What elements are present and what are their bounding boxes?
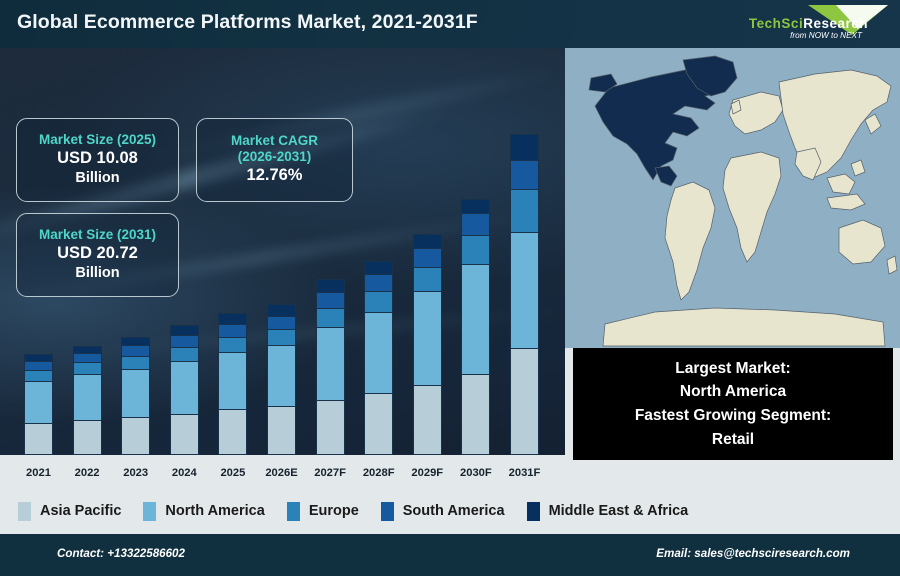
chart-legend: Asia PacificNorth AmericaEuropeSouth Ame… bbox=[0, 488, 900, 534]
bar-segment-asia-pacific bbox=[24, 423, 53, 455]
bar-segment-europe bbox=[24, 370, 53, 381]
bar-segment-north-america bbox=[413, 291, 442, 385]
bar-segment-middle-east-africa bbox=[413, 234, 442, 248]
bar-segment-south-america bbox=[170, 335, 199, 347]
bar-segment-north-america bbox=[73, 374, 102, 420]
bar-segment-middle-east-africa bbox=[121, 337, 150, 345]
bar-segment-europe bbox=[218, 337, 247, 352]
legend-swatch-icon bbox=[287, 502, 300, 521]
bar-segment-europe bbox=[413, 267, 442, 291]
bar-segment-europe bbox=[461, 235, 490, 264]
bar-segment-asia-pacific bbox=[267, 406, 296, 455]
bar-2021 bbox=[24, 354, 53, 455]
techsci-research-logo: TechSciResearch from NOW to NEXT bbox=[704, 2, 892, 46]
footer-bar: Contact: +13322586602 Email: sales@techs… bbox=[0, 534, 900, 576]
bar-segment-south-america bbox=[267, 316, 296, 329]
bar-segment-asia-pacific bbox=[316, 400, 345, 455]
bar-2028F bbox=[364, 261, 393, 455]
page-title: Global Ecommerce Platforms Market, 2021-… bbox=[17, 11, 478, 34]
bar-segment-north-america bbox=[316, 327, 345, 400]
bar-2024 bbox=[170, 325, 199, 455]
contact-email: Email: sales@techsciresearch.com bbox=[656, 547, 850, 560]
bar-2027F bbox=[316, 279, 345, 455]
card-label: Market Size (2031) bbox=[39, 227, 156, 243]
bar-segment-middle-east-africa bbox=[510, 134, 539, 160]
bar-segment-south-america bbox=[73, 353, 102, 363]
infographic-page: Global Ecommerce Platforms Market, 2021-… bbox=[0, 0, 900, 576]
bar-segment-europe bbox=[121, 356, 150, 369]
legend-item-middle-east-africa[interactable]: Middle East & Africa bbox=[527, 502, 689, 521]
header-bar: Global Ecommerce Platforms Market, 2021-… bbox=[0, 0, 900, 48]
bar-2029F bbox=[413, 234, 442, 455]
legend-item-asia-pacific[interactable]: Asia Pacific bbox=[18, 502, 121, 521]
bar-segment-north-america bbox=[510, 232, 539, 348]
bar-segment-europe bbox=[316, 308, 345, 327]
card-label-line1: Market CAGR bbox=[231, 133, 318, 149]
card-unit: Billion bbox=[75, 264, 119, 283]
legend-label: North America bbox=[165, 503, 264, 519]
market-size-2025-card: Market Size (2025) USD 10.08 Billion bbox=[16, 118, 179, 202]
bar-2022 bbox=[73, 346, 102, 455]
bar-segment-middle-east-africa bbox=[267, 304, 296, 316]
bar-segment-middle-east-africa bbox=[364, 261, 393, 274]
bar-2030F bbox=[461, 199, 490, 455]
bar-segment-south-america bbox=[364, 274, 393, 291]
contact-phone: Contact: +13322586602 bbox=[57, 547, 185, 560]
bar-segment-middle-east-africa bbox=[461, 199, 490, 214]
logo-wordmark: TechSciResearch bbox=[749, 16, 868, 31]
largest-market-value: North America bbox=[680, 380, 786, 404]
chart-panel: 202120222023202420252026E2027F2028F2029F… bbox=[0, 48, 565, 488]
bar-2025 bbox=[218, 313, 247, 455]
bar-segment-south-america bbox=[316, 292, 345, 307]
bar-segment-south-america bbox=[24, 361, 53, 370]
bar-segment-asia-pacific bbox=[218, 409, 247, 455]
card-value: USD 20.72 bbox=[57, 243, 138, 265]
card-value: USD 10.08 bbox=[57, 148, 138, 170]
logo-tech-text: TechSci bbox=[749, 16, 803, 31]
bar-segment-middle-east-africa bbox=[73, 346, 102, 353]
bar-segment-north-america bbox=[121, 369, 150, 417]
bar-segment-north-america bbox=[267, 345, 296, 406]
bar-segment-asia-pacific bbox=[510, 348, 539, 455]
bar-segment-south-america bbox=[461, 213, 490, 235]
legend-swatch-icon bbox=[18, 502, 31, 521]
legend-swatch-icon bbox=[381, 502, 394, 521]
legend-label: South America bbox=[403, 503, 505, 519]
bar-segment-middle-east-africa bbox=[24, 354, 53, 361]
legend-label: Middle East & Africa bbox=[549, 503, 689, 519]
largest-market-label: Largest Market: bbox=[675, 357, 790, 381]
bar-segment-north-america bbox=[24, 381, 53, 424]
bar-segment-north-america bbox=[170, 361, 199, 414]
bar-segment-asia-pacific bbox=[73, 420, 102, 455]
bar-segment-south-america bbox=[218, 324, 247, 336]
bar-segment-asia-pacific bbox=[121, 417, 150, 455]
bar-segment-europe bbox=[267, 329, 296, 345]
x-tick-2031F: 2031F bbox=[492, 467, 558, 479]
fastest-segment-value: Retail bbox=[712, 428, 754, 452]
bar-segment-europe bbox=[510, 189, 539, 232]
bar-segment-asia-pacific bbox=[170, 414, 199, 455]
legend-item-north-america[interactable]: North America bbox=[143, 502, 264, 521]
legend-label: Asia Pacific bbox=[40, 503, 121, 519]
bar-segment-europe bbox=[364, 291, 393, 312]
bar-segment-asia-pacific bbox=[364, 393, 393, 455]
bar-segment-middle-east-africa bbox=[218, 313, 247, 324]
fastest-segment-label: Fastest Growing Segment: bbox=[635, 404, 831, 428]
bar-segment-europe bbox=[170, 347, 199, 362]
bar-segment-south-america bbox=[510, 160, 539, 189]
card-label-line2: (2026-2031) bbox=[238, 149, 312, 165]
legend-label: Europe bbox=[309, 503, 359, 519]
bar-segment-asia-pacific bbox=[461, 374, 490, 455]
bar-segment-asia-pacific bbox=[413, 385, 442, 455]
legend-swatch-icon bbox=[143, 502, 156, 521]
market-size-2031-card: Market Size (2031) USD 20.72 Billion bbox=[16, 213, 179, 297]
bar-2026E bbox=[267, 304, 296, 455]
legend-swatch-icon bbox=[527, 502, 540, 521]
world-map-svg bbox=[565, 48, 900, 348]
bar-segment-south-america bbox=[121, 345, 150, 356]
card-label: Market Size (2025) bbox=[39, 132, 156, 148]
legend-item-europe[interactable]: Europe bbox=[287, 502, 359, 521]
card-value: 12.76% bbox=[247, 165, 303, 187]
world-map bbox=[565, 48, 900, 348]
bar-2031F bbox=[510, 134, 539, 455]
key-insights-box: Largest Market: North America Fastest Gr… bbox=[573, 348, 893, 460]
bar-segment-middle-east-africa bbox=[316, 279, 345, 292]
bar-segment-europe bbox=[73, 362, 102, 374]
bar-segment-north-america bbox=[364, 312, 393, 393]
logo-research-text: Research bbox=[803, 16, 868, 31]
market-cagr-card: Market CAGR (2026-2031) 12.76% bbox=[196, 118, 353, 202]
bar-segment-north-america bbox=[461, 264, 490, 374]
logo-tagline: from NOW to NEXT bbox=[790, 31, 862, 40]
legend-item-south-america[interactable]: South America bbox=[381, 502, 505, 521]
bar-segment-south-america bbox=[413, 248, 442, 267]
bar-segment-north-america bbox=[218, 352, 247, 409]
bar-segment-middle-east-africa bbox=[170, 325, 199, 335]
card-unit: Billion bbox=[75, 169, 119, 188]
bar-2023 bbox=[121, 337, 150, 455]
